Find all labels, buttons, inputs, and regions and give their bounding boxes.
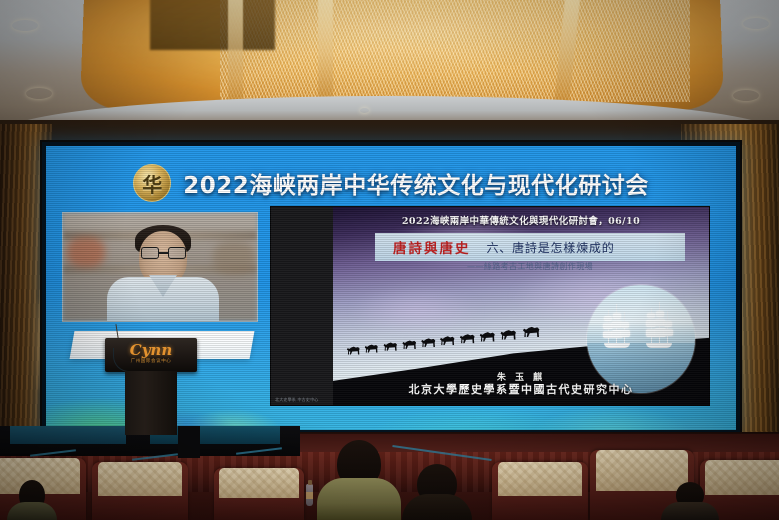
audience-member (316, 440, 402, 520)
conference-emblem-icon: 华 (133, 164, 171, 202)
slide-footer-note: 北大史學系 中古史中心 (275, 397, 318, 403)
chair-cover (98, 462, 182, 496)
audience-member (660, 482, 720, 520)
downlight-icon (733, 90, 759, 101)
audience-chair (492, 462, 588, 520)
slide-subtitle: ——絲路考古工地與唐詩創作現場 (375, 260, 685, 273)
downlight-icon (26, 88, 52, 99)
podium-body (125, 371, 177, 435)
presentation-slide: 2022海峡兩岸中華傳統文化與現代化研討會，06/10 唐詩與唐史 六、唐詩是怎… (270, 206, 710, 406)
slide-title-bar: 唐詩與唐史 六、唐詩是怎樣煉成的 (375, 233, 685, 261)
water-bottle (306, 484, 313, 506)
slide-section-title: 六、唐詩是怎樣煉成的 (487, 239, 615, 256)
video-blur-blob (213, 241, 255, 275)
podium-front-panel: Cynn 广州国际会议中心 (105, 338, 197, 372)
downlight-icon (743, 18, 769, 29)
ceiling (0, 0, 779, 132)
slide-left-panel (271, 207, 333, 405)
ceiling-beam (228, 0, 243, 102)
podium-cable (113, 348, 139, 372)
slide-affiliation: 北京大學歷史學系暨中國古代史研究中心 (333, 381, 709, 397)
glasses-icon (141, 247, 186, 259)
chair-cover (498, 462, 582, 496)
ceiling-crystal-texture (220, 0, 690, 102)
camel-caravan-icon (341, 323, 611, 357)
remote-speaker-video (62, 212, 258, 322)
slide-header-text: 2022海峡兩岸中華傳統文化與現代化研討會，06/10 (333, 211, 709, 229)
chair-cover (219, 468, 298, 498)
conference-hall-photo: 华 2022海峡两岸中华传统文化与现代化研讨会 朱玉麒 (0, 0, 779, 520)
podium: Cynn 广州国际会议中心 (105, 338, 197, 434)
conference-title: 2022海峡两岸中华传统文化与现代化研讨会 (183, 166, 649, 200)
video-blur-blob (67, 237, 105, 267)
audience-chair (214, 468, 304, 520)
audience-member (6, 480, 58, 520)
screen-banner: 华 2022海峡两岸中华传统文化与现代化研讨会 (46, 160, 736, 206)
audience-member (400, 464, 474, 520)
downlight-icon (360, 108, 369, 113)
ceiling-beam (318, 0, 333, 102)
audience-chair (92, 462, 188, 520)
slide-main-title: 唐詩與唐史 (393, 237, 471, 257)
ceiling-recess (150, 0, 275, 50)
downlight-icon (12, 20, 38, 31)
